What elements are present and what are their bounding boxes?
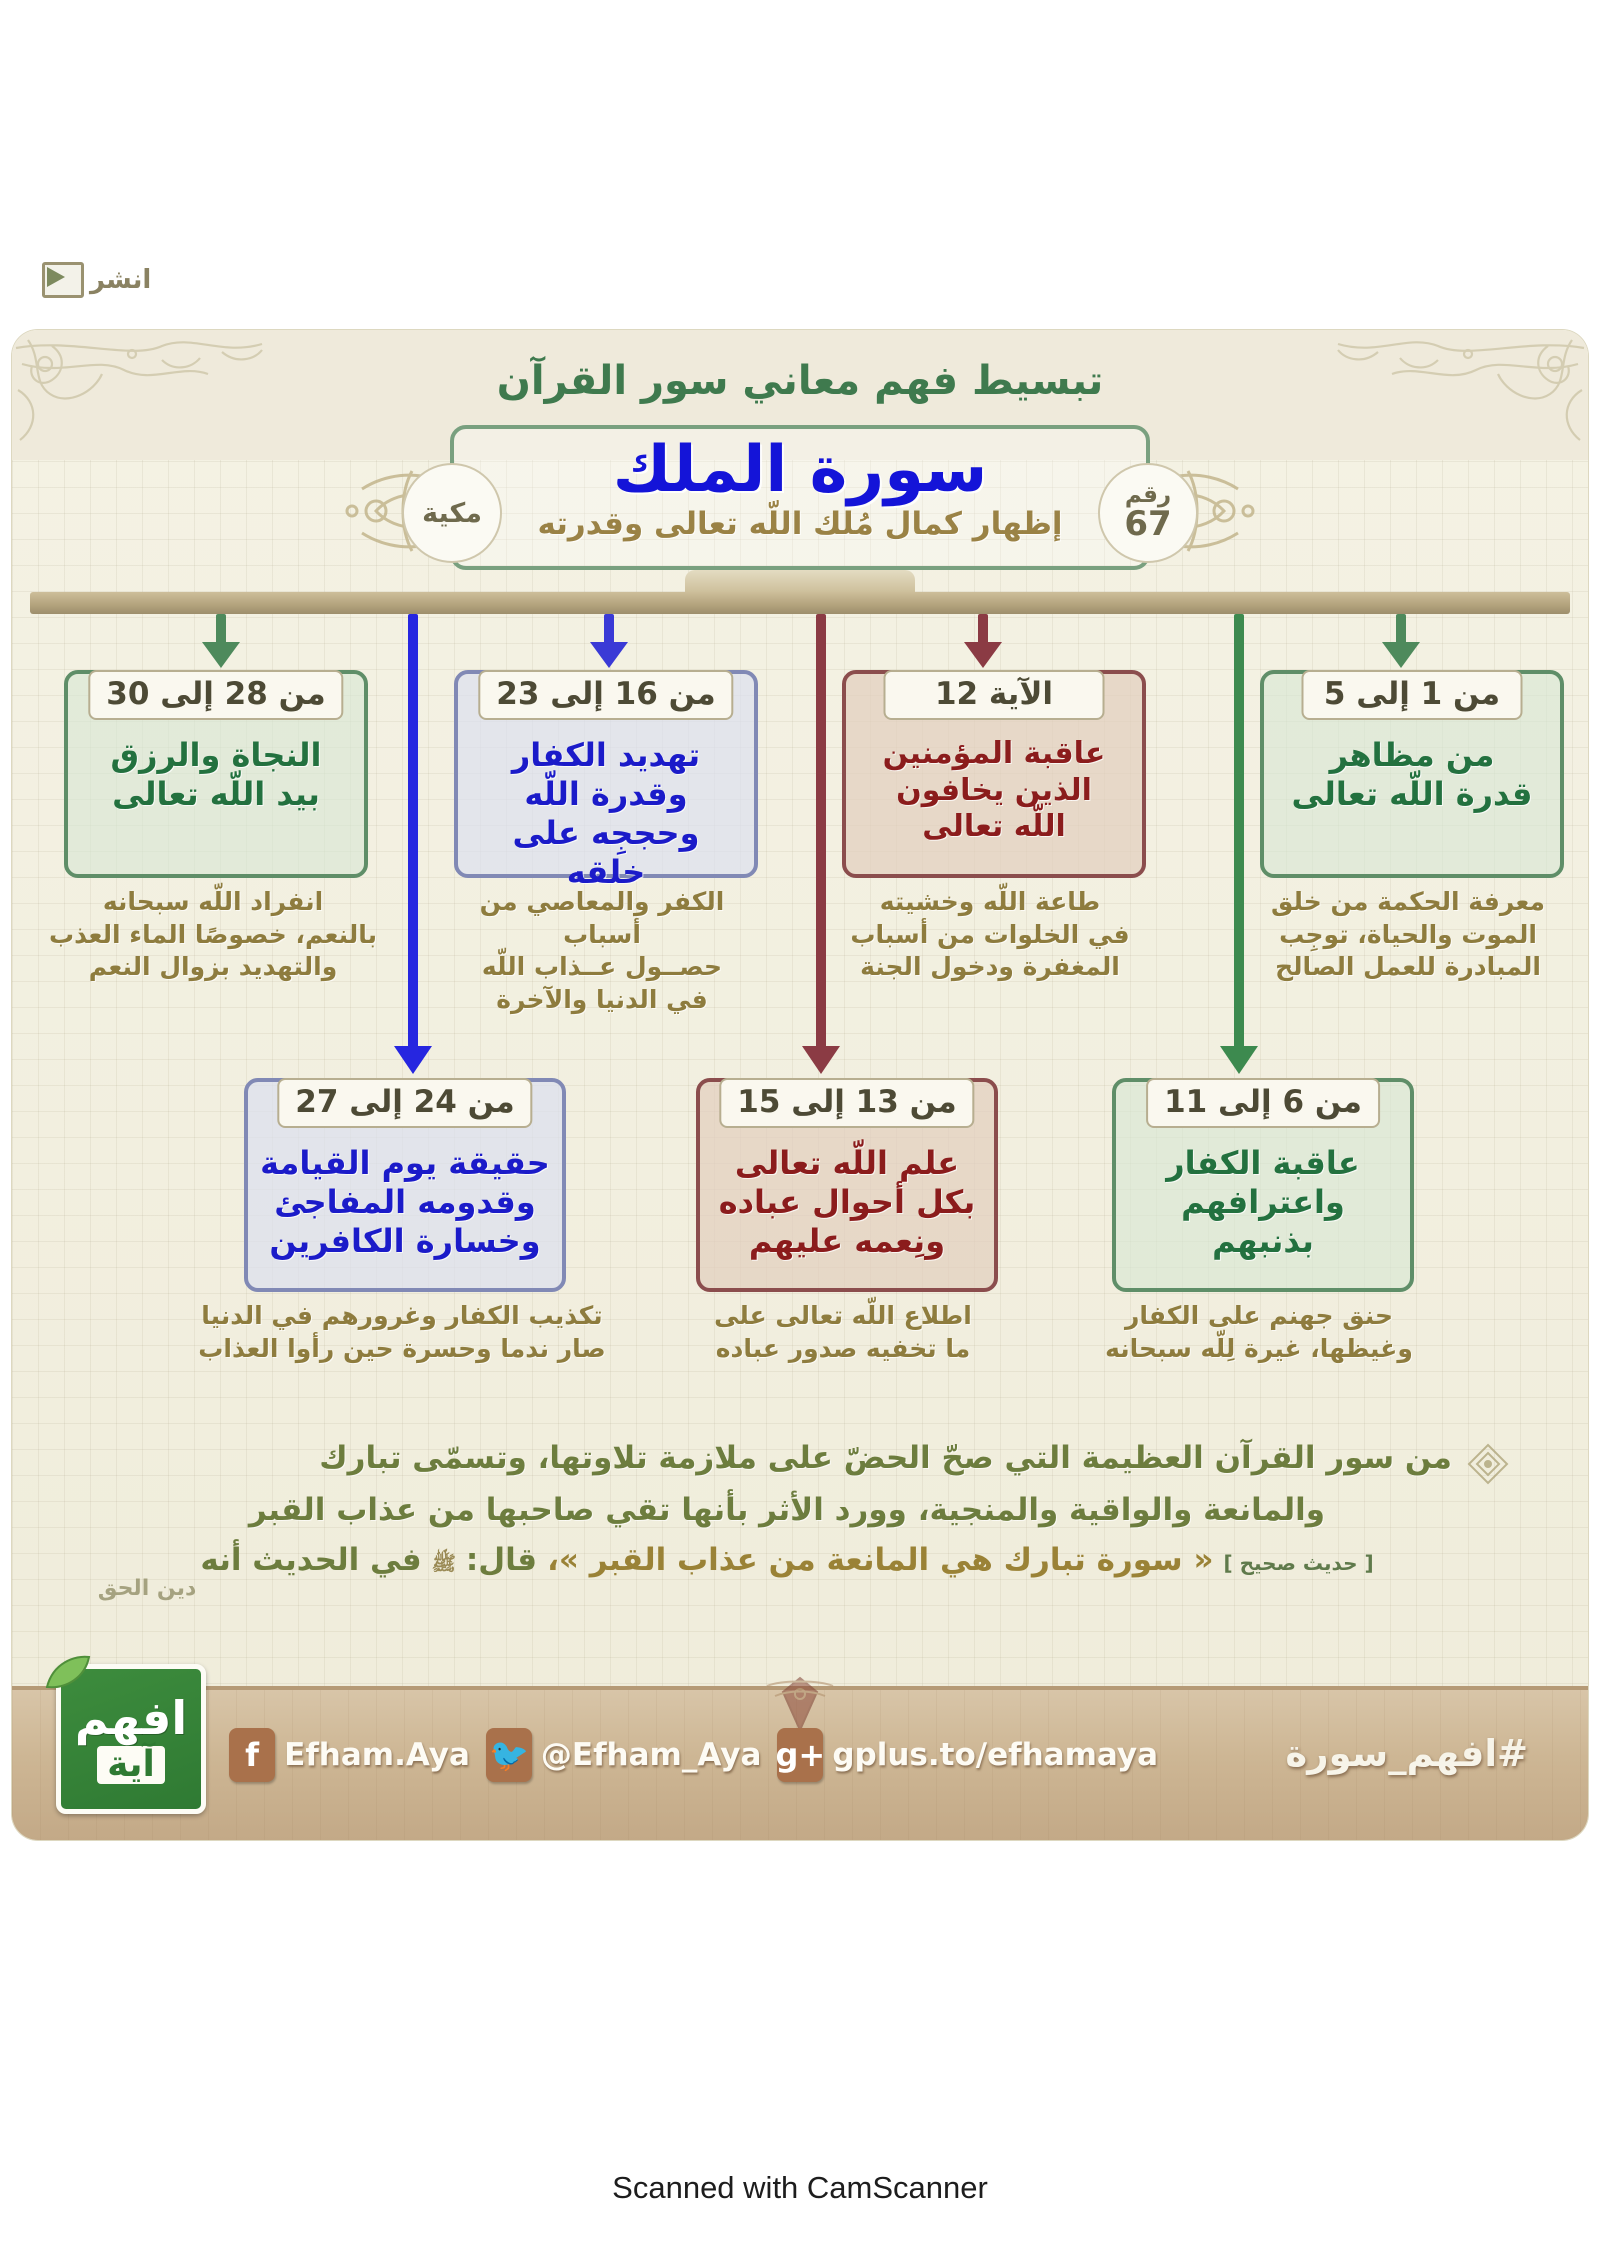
surah-number-value: 67 bbox=[1124, 507, 1171, 543]
branch-box-2[interactable]: الآية 12 عاقبة المؤمنين الذين يخافون الل… bbox=[842, 670, 1146, 878]
closing-note: من سور القرآن العظيمة التي صحّ الحضّ على… bbox=[122, 1438, 1452, 1580]
branch-2-caption: طاعة اللّه وخشيته في الخلوات من أسباب ال… bbox=[838, 886, 1142, 984]
footer-bar: f Efham.Aya 🐦 @Efham_Aya g+ gplus.to/efh… bbox=[12, 1686, 1588, 1840]
branch-7-caption: تكذيب الكفار وغرورهم في الدنيا صار ندما … bbox=[162, 1300, 642, 1365]
connector-b1 bbox=[1382, 614, 1420, 670]
branch-6-tag: من 13 إلى 15 bbox=[719, 1078, 974, 1128]
hashtag: #افهم_سورة bbox=[1285, 1732, 1528, 1775]
googleplus-icon: g+ bbox=[777, 1728, 823, 1782]
branch-box-1[interactable]: من 1 إلى 5 من مظاهر قدرة اللّه تعالى bbox=[1260, 670, 1564, 878]
branch-3-caption: الكفر والمعاصي من أسباب حصــول عــذاب ال… bbox=[444, 886, 760, 1016]
revelation-type-badge: مكية bbox=[402, 463, 502, 563]
branch-6-caption: اطلاع اللّه تعالى على ما تخفيه صدور عباد… bbox=[684, 1300, 1002, 1365]
surah-title-box: سورة الملك إظهار كمال مُلك اللّه تعالى و… bbox=[450, 425, 1150, 570]
connector-c3 bbox=[394, 614, 432, 1078]
note-line-1: من سور القرآن العظيمة التي صحّ الحضّ على… bbox=[122, 1438, 1452, 1480]
infographic-poster: تبسيط فهم معاني سور القرآن سورة الملك إظ… bbox=[12, 330, 1588, 1840]
share-label: انشر bbox=[90, 265, 151, 295]
watermark-text: دين الحق bbox=[98, 1576, 197, 1601]
twitter-link[interactable]: 🐦 @Efham_Aya bbox=[486, 1728, 761, 1782]
connector-b4 bbox=[202, 614, 240, 670]
facebook-link[interactable]: f Efham.Aya bbox=[229, 1728, 470, 1782]
branch-box-7[interactable]: من 24 إلى 27 حقيقة يوم القيامة وقدومه ال… bbox=[244, 1078, 566, 1292]
facebook-handle: Efham.Aya bbox=[284, 1737, 470, 1773]
hadith-grade: [ حديث صحيح ] bbox=[1223, 1551, 1373, 1575]
hadith-text: « سورة تبارك هي المانعة من عذاب القبر »، bbox=[547, 1542, 1213, 1578]
pbuh-icon: ﷺ bbox=[432, 1551, 456, 1580]
branch-7-title: حقيقة يوم القيامة وقدومه المفاجئ وخسارة … bbox=[248, 1144, 562, 1273]
connector-b3 bbox=[590, 614, 628, 670]
share-icon bbox=[42, 262, 84, 298]
branch-1-tag: من 1 إلى 5 bbox=[1302, 670, 1523, 720]
trunk-bar bbox=[30, 592, 1570, 614]
connector-c2 bbox=[802, 614, 840, 1078]
share-button[interactable]: انشر bbox=[42, 262, 151, 298]
branch-4-title: النجاة والرزق بيد اللّه تعالى bbox=[68, 736, 364, 826]
camscanner-watermark: Scanned with CamScanner bbox=[0, 2170, 1600, 2206]
branch-box-3[interactable]: من 16 إلى 23 تهديد الكفار وقدرة اللّه وح… bbox=[454, 670, 758, 878]
social-links: f Efham.Aya 🐦 @Efham_Aya g+ gplus.to/efh… bbox=[229, 1728, 1158, 1782]
connector-b2 bbox=[964, 614, 1002, 670]
hadith-said: قال: bbox=[466, 1542, 537, 1578]
twitter-icon: 🐦 bbox=[486, 1728, 532, 1782]
watermark: دين الحق bbox=[72, 1576, 222, 1666]
brand-logo: افهم آية bbox=[56, 1664, 206, 1814]
branch-5-tag: من 6 إلى 11 bbox=[1146, 1078, 1380, 1128]
share-row: انشر bbox=[0, 262, 1600, 322]
branch-box-4[interactable]: من 28 إلى 30 النجاة والرزق بيد اللّه تعا… bbox=[64, 670, 368, 878]
twitter-handle: @Efham_Aya bbox=[541, 1737, 761, 1773]
leaf-icon bbox=[45, 1655, 91, 1691]
branch-6-title: علم اللّه تعالى بكل أحوال عباده ونِعمه ع… bbox=[700, 1144, 994, 1273]
branch-3-tag: من 16 إلى 23 bbox=[478, 670, 733, 720]
branch-4-tag: من 28 إلى 30 bbox=[88, 670, 343, 720]
branch-1-caption: معرفة الحكمة من خلق الموت والحياة، توجِب… bbox=[1256, 886, 1560, 984]
branch-2-title: عاقبة المؤمنين الذين يخافون اللّه تعالى bbox=[846, 736, 1142, 858]
branch-3-title: تهديد الكفار وقدرة اللّه وحججِه على خلقه bbox=[458, 736, 754, 904]
branch-2-tag: الآية 12 bbox=[884, 670, 1105, 720]
googleplus-link[interactable]: g+ gplus.to/efhamaya bbox=[777, 1728, 1158, 1782]
hadith-prefix: في الحديث أنه bbox=[200, 1542, 421, 1578]
diamond-ornament-icon bbox=[1466, 1442, 1510, 1486]
hadith-line: [ حديث صحيح ] « سورة تبارك هي المانعة من… bbox=[122, 1542, 1452, 1580]
logo-line-2: آية bbox=[97, 1746, 165, 1784]
googleplus-handle: gplus.to/efhamaya bbox=[832, 1737, 1158, 1773]
surah-subtitle: إظهار كمال مُلك اللّه تعالى وقدرته bbox=[454, 506, 1146, 542]
connector-c1 bbox=[1220, 614, 1258, 1078]
logo-line-1: افهم bbox=[75, 1694, 187, 1742]
branch-box-5[interactable]: من 6 إلى 11 عاقبة الكفار واعترافهم بذنبه… bbox=[1112, 1078, 1414, 1292]
surah-number-badge: رقم 67 bbox=[1098, 463, 1198, 563]
trunk-cap bbox=[685, 570, 915, 594]
note-line-2: والمانعة والواقية والمنجية، وورد الأثر ب… bbox=[122, 1490, 1452, 1532]
surah-header: سورة الملك إظهار كمال مُلك اللّه تعالى و… bbox=[450, 425, 1150, 570]
branch-1-title: من مظاهر قدرة اللّه تعالى bbox=[1264, 736, 1560, 826]
branch-4-caption: انفراد اللّه سبحانه بالنعم، خصوصًا الماء… bbox=[48, 886, 378, 984]
branch-box-6[interactable]: من 13 إلى 15 علم اللّه تعالى بكل أحوال ع… bbox=[696, 1078, 998, 1292]
branch-5-caption: حنق جهنم على الكفار وغيظها، غيرة لِلّه س… bbox=[1098, 1300, 1420, 1365]
branch-7-tag: من 24 إلى 27 bbox=[277, 1078, 532, 1128]
branch-5-title: عاقبة الكفار واعترافهم بذنبهم bbox=[1116, 1144, 1410, 1273]
surah-name: سورة الملك bbox=[454, 437, 1146, 504]
facebook-icon: f bbox=[229, 1728, 275, 1782]
page-supertitle: تبسيط فهم معاني سور القرآن bbox=[12, 358, 1588, 404]
